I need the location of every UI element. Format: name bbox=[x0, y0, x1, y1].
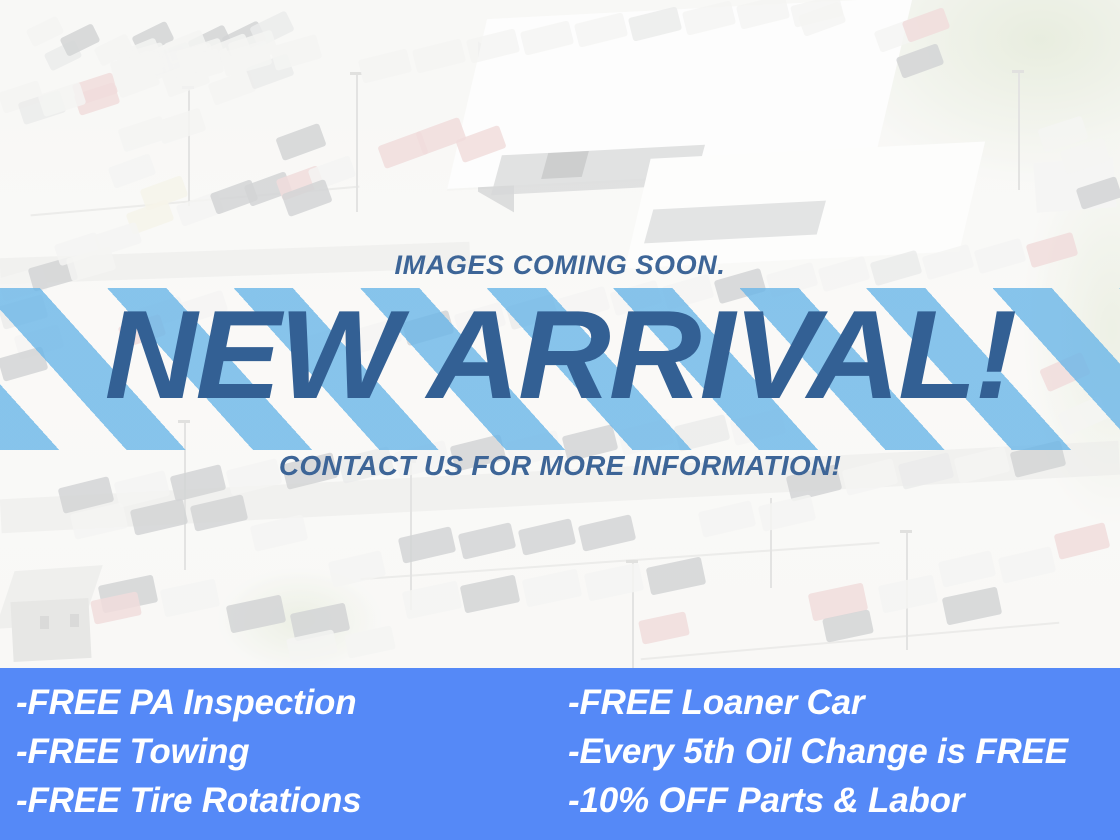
parked-car bbox=[26, 16, 65, 48]
offer-item: -FREE Towing bbox=[16, 727, 560, 776]
parked-car bbox=[108, 153, 157, 189]
parked-car bbox=[344, 625, 396, 658]
light-pole bbox=[1018, 70, 1020, 190]
contact-us-text: CONTACT US FOR MORE INFORMATION! bbox=[0, 450, 1120, 482]
parked-car bbox=[942, 586, 1003, 625]
building-bay-door bbox=[541, 151, 589, 179]
images-coming-soon-text: IMAGES COMING SOON. bbox=[0, 250, 1120, 281]
parked-car bbox=[412, 38, 466, 73]
offers-right-column: -FREE Loaner Car -Every 5th Oil Change i… bbox=[560, 678, 1120, 825]
parked-car bbox=[458, 522, 516, 559]
parked-car bbox=[269, 34, 322, 71]
parked-car bbox=[646, 556, 707, 595]
offers-left-column: -FREE PA Inspection -FREE Towing -FREE T… bbox=[0, 678, 560, 825]
offer-item: -10% OFF Parts & Labor bbox=[568, 776, 1120, 825]
parked-car bbox=[698, 500, 756, 537]
offer-item: -FREE Loaner Car bbox=[568, 678, 1120, 727]
parked-car bbox=[878, 574, 939, 613]
offer-item: -Every 5th Oil Change is FREE bbox=[568, 727, 1120, 776]
vehicle-listing-placeholder-image: IMAGES COMING SOON. NEW ARRIVAL! CONTACT… bbox=[0, 0, 1120, 840]
parked-car bbox=[758, 494, 816, 531]
parked-car bbox=[896, 43, 945, 79]
parked-car bbox=[328, 550, 386, 587]
parked-car bbox=[998, 546, 1056, 583]
parked-car bbox=[518, 518, 576, 555]
parked-car bbox=[1054, 522, 1111, 560]
offers-banner: -FREE PA Inspection -FREE Towing -FREE T… bbox=[0, 668, 1120, 840]
parked-car bbox=[358, 48, 412, 83]
parked-car bbox=[226, 594, 287, 633]
house-window bbox=[40, 616, 49, 629]
light-pole bbox=[188, 86, 190, 206]
offer-item: -FREE Tire Rotations bbox=[16, 776, 560, 825]
house-window bbox=[70, 614, 79, 627]
parked-car bbox=[578, 514, 636, 551]
offer-item: -FREE PA Inspection bbox=[16, 678, 560, 727]
light-pole-head bbox=[900, 530, 912, 533]
parked-car bbox=[250, 514, 308, 551]
parked-car bbox=[275, 123, 326, 161]
parked-car bbox=[638, 611, 690, 644]
parked-car bbox=[584, 562, 645, 601]
parked-car bbox=[160, 578, 221, 617]
house-wall bbox=[10, 598, 91, 662]
parked-car bbox=[155, 107, 206, 144]
new-arrival-headline: NEW ARRIVAL! bbox=[0, 292, 1120, 418]
light-pole-head bbox=[1012, 70, 1024, 73]
parked-car bbox=[90, 591, 142, 624]
parked-car bbox=[522, 568, 583, 607]
parked-car bbox=[938, 550, 996, 587]
parked-car bbox=[460, 574, 521, 613]
light-pole bbox=[356, 72, 358, 212]
parked-car bbox=[398, 526, 456, 563]
